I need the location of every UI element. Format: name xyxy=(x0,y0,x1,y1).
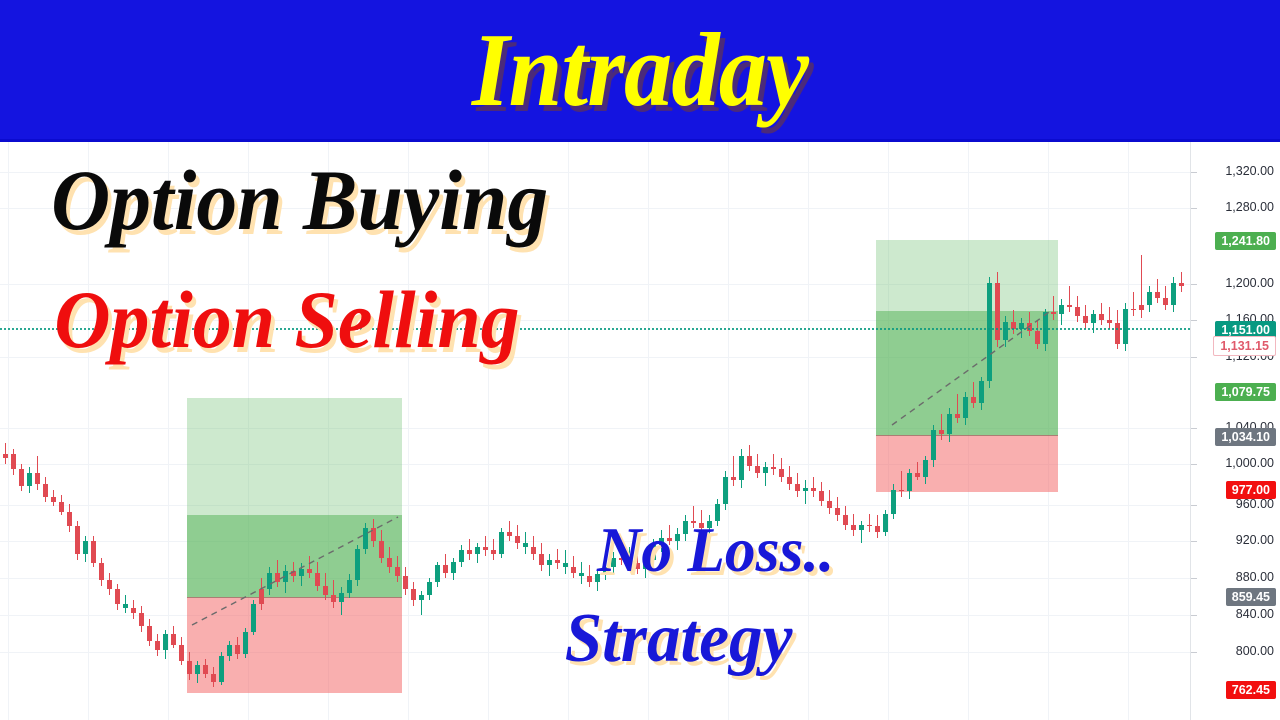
price-badge-take-profit-upper[interactable]: 1,241.80 xyxy=(1215,232,1276,250)
candlestick xyxy=(923,456,928,484)
candlestick xyxy=(995,272,1000,348)
candle-body xyxy=(219,656,224,682)
candlestick xyxy=(963,392,968,425)
price-badge-countdown-price[interactable]: 1,131.15 xyxy=(1213,336,1276,356)
candle-body xyxy=(739,456,744,480)
candle-body xyxy=(227,645,232,656)
candle-body xyxy=(275,573,280,582)
candle-body xyxy=(67,512,72,527)
candlestick xyxy=(1139,255,1144,318)
candle-body xyxy=(475,547,480,554)
candle-body xyxy=(1115,323,1120,343)
candlestick xyxy=(443,554,448,578)
candle-body xyxy=(51,497,56,503)
candlestick xyxy=(155,634,160,656)
candle-body xyxy=(859,525,864,531)
candlestick xyxy=(819,482,824,506)
candlestick xyxy=(1083,305,1088,329)
candlestick xyxy=(979,377,984,410)
candlestick xyxy=(547,554,552,576)
candlestick xyxy=(1067,286,1072,312)
candle-body xyxy=(3,454,8,458)
candlestick xyxy=(915,462,920,480)
candle-body xyxy=(1171,283,1176,305)
candle-body xyxy=(723,477,728,505)
candle-body xyxy=(491,550,496,554)
candle-body xyxy=(931,430,936,460)
candle-body xyxy=(11,454,16,469)
gridline-vertical xyxy=(8,142,9,720)
candle-body xyxy=(411,589,416,600)
candle-wick xyxy=(765,462,766,486)
candle-body xyxy=(811,488,816,492)
candlestick xyxy=(1131,292,1136,316)
candle-body xyxy=(451,562,456,573)
candle-body xyxy=(531,547,536,554)
candle-body xyxy=(1075,307,1080,316)
candle-body xyxy=(835,508,840,515)
candlestick xyxy=(363,523,368,554)
candlestick xyxy=(491,539,496,559)
candlestick xyxy=(1179,272,1184,292)
price-tick-label: 1,000.00 xyxy=(1225,456,1274,470)
candle-wick xyxy=(1109,307,1110,329)
candlestick xyxy=(763,462,768,486)
candlestick xyxy=(811,477,816,497)
candlestick xyxy=(723,471,728,510)
candlestick xyxy=(747,445,752,471)
candlestick xyxy=(1035,320,1040,350)
candlestick xyxy=(123,595,128,613)
candle-body xyxy=(35,473,40,484)
candlestick xyxy=(51,490,56,507)
candle-body xyxy=(259,589,264,604)
price-tick-mark xyxy=(1191,320,1197,321)
candlestick xyxy=(1051,296,1056,320)
candlestick xyxy=(283,565,288,593)
candle-body xyxy=(571,567,576,573)
candlestick xyxy=(19,464,24,492)
candle-body xyxy=(1107,320,1112,324)
candlestick xyxy=(75,521,80,560)
candlestick xyxy=(1003,316,1008,347)
candle-body xyxy=(139,613,144,626)
candlestick xyxy=(931,425,936,467)
candlestick xyxy=(795,473,800,497)
title-banner: Intraday xyxy=(0,0,1280,139)
candlestick xyxy=(411,582,416,606)
candlestick xyxy=(587,565,592,587)
overlay-strategy: Strategy xyxy=(565,600,793,678)
price-tick-label: 960.00 xyxy=(1236,497,1274,511)
candlestick xyxy=(259,578,264,609)
candle-body xyxy=(155,641,160,650)
candle-body xyxy=(795,484,800,491)
candlestick xyxy=(971,382,976,408)
candle-wick xyxy=(549,554,550,576)
candlestick xyxy=(3,443,8,463)
candlestick xyxy=(355,545,360,586)
candlestick xyxy=(67,504,72,532)
candle-body xyxy=(803,488,808,492)
candle-body xyxy=(587,576,592,582)
candle-body xyxy=(323,586,328,595)
overlay-no-loss: No Loss.. xyxy=(597,514,834,586)
candlestick xyxy=(451,558,456,580)
candle-wick xyxy=(901,471,902,497)
candle-body xyxy=(131,608,136,614)
price-tick-mark xyxy=(1191,541,1197,542)
candle-wick xyxy=(941,414,942,440)
candle-body xyxy=(939,430,944,434)
candle-body xyxy=(819,491,824,500)
price-tick-label: 1,280.00 xyxy=(1225,200,1274,214)
candlestick xyxy=(779,458,784,482)
candle-body xyxy=(1179,283,1184,287)
candle-body xyxy=(83,541,88,554)
candle-body xyxy=(1131,309,1136,311)
long-position-left-inner-target-zone[interactable] xyxy=(187,515,402,597)
candlestick xyxy=(347,574,352,598)
candle-body xyxy=(955,414,960,418)
overlay-option-selling: Option Selling xyxy=(54,274,519,366)
candlestick xyxy=(755,454,760,478)
candle-body xyxy=(555,560,560,564)
candlestick xyxy=(419,591,424,615)
candlestick xyxy=(891,484,896,519)
price-tick-label: 880.00 xyxy=(1236,570,1274,584)
candlestick xyxy=(907,469,912,499)
candle-body xyxy=(339,593,344,602)
candlestick xyxy=(379,530,384,563)
candle-wick xyxy=(773,454,774,474)
candlestick xyxy=(555,549,560,569)
long-position-right-entry-line xyxy=(876,435,1058,436)
candle-body xyxy=(59,502,64,511)
candle-body xyxy=(315,573,320,586)
candlestick xyxy=(851,514,856,536)
candlestick xyxy=(883,510,888,536)
candle-body xyxy=(27,473,32,486)
candle-body xyxy=(363,528,368,548)
candlestick xyxy=(171,626,176,648)
candle-body xyxy=(435,565,440,582)
candlestick xyxy=(867,514,872,532)
candle-body xyxy=(963,397,968,417)
candle-body xyxy=(1035,331,1040,344)
candlestick xyxy=(427,578,432,600)
price-tick-label: 1,200.00 xyxy=(1225,276,1274,290)
gridline-vertical xyxy=(808,142,809,720)
candle-body xyxy=(251,604,256,632)
candlestick xyxy=(1107,307,1112,329)
candlestick xyxy=(147,619,152,647)
candlestick xyxy=(179,637,184,665)
candlestick xyxy=(1155,279,1160,303)
candlestick xyxy=(531,536,536,560)
candle-body xyxy=(179,645,184,662)
candlestick xyxy=(483,536,488,556)
candle-body xyxy=(91,541,96,563)
candle-body xyxy=(347,580,352,593)
candle-body xyxy=(579,573,584,577)
candlestick xyxy=(803,480,808,504)
candle-body xyxy=(1051,312,1056,314)
candlestick xyxy=(339,587,344,615)
candlestick xyxy=(475,543,480,563)
price-tick-mark xyxy=(1191,172,1197,173)
overlay-option-buying: Option Buying xyxy=(51,152,548,248)
candle-wick xyxy=(733,456,734,486)
candlestick xyxy=(131,600,136,618)
candlestick xyxy=(227,641,232,661)
candle-body xyxy=(843,515,848,524)
candlestick xyxy=(243,628,248,658)
candle-body xyxy=(267,573,272,590)
price-tick-mark xyxy=(1191,615,1197,616)
candlestick xyxy=(1163,286,1168,310)
candlestick xyxy=(435,562,440,588)
price-tick-label: 800.00 xyxy=(1236,644,1274,658)
candlestick xyxy=(499,528,504,558)
candlestick xyxy=(115,584,120,610)
candle-body xyxy=(115,589,120,604)
candle-body xyxy=(283,571,288,582)
price-badge-target-level[interactable]: 1,079.75 xyxy=(1215,383,1276,401)
candle-body xyxy=(1003,322,1008,340)
candle-body xyxy=(547,560,552,566)
candlestick xyxy=(1059,299,1064,325)
candlestick xyxy=(251,600,256,635)
candle-body xyxy=(891,490,896,514)
candlestick xyxy=(771,454,776,474)
candle-body xyxy=(515,536,520,543)
candle-body xyxy=(187,661,192,674)
candlestick xyxy=(307,556,312,578)
candlestick xyxy=(523,532,528,554)
candle-body xyxy=(1091,314,1096,323)
candle-body xyxy=(395,567,400,576)
candlestick xyxy=(291,562,296,582)
candle-body xyxy=(75,526,80,554)
candlestick xyxy=(731,456,736,486)
candlestick xyxy=(235,637,240,659)
candlestick xyxy=(83,536,88,562)
candle-body xyxy=(1067,305,1072,307)
price-badge-stop-loss[interactable]: 762.45 xyxy=(1226,681,1276,699)
candle-body xyxy=(787,477,792,484)
candle-body xyxy=(99,563,104,580)
candle-body xyxy=(467,550,472,554)
candlestick xyxy=(107,573,112,595)
candle-body xyxy=(483,547,488,551)
price-tick-mark xyxy=(1191,357,1197,358)
candlestick xyxy=(91,536,96,567)
price-tick-label: 840.00 xyxy=(1236,607,1274,621)
candle-body xyxy=(763,467,768,473)
candlestick xyxy=(571,556,576,578)
candle-body xyxy=(307,569,312,573)
candle-body xyxy=(1139,305,1144,311)
price-badge-entry-level[interactable]: 1,034.10 xyxy=(1215,428,1276,446)
candle-body xyxy=(427,582,432,595)
candle-body xyxy=(1147,292,1152,305)
candle-body xyxy=(459,550,464,561)
candlestick xyxy=(299,563,304,585)
candlestick xyxy=(827,490,832,514)
candle-body xyxy=(563,563,568,567)
candlestick xyxy=(267,567,272,595)
price-badge-stop-loss[interactable]: 977.00 xyxy=(1226,481,1276,499)
candlestick xyxy=(1075,296,1080,322)
candle-body xyxy=(371,528,376,541)
candle-body xyxy=(731,477,736,481)
candle-body xyxy=(867,525,872,527)
candle-body xyxy=(499,532,504,554)
candlestick xyxy=(43,477,48,503)
price-scale[interactable]: 1,320.001,280.001,200.001,160.001,120.00… xyxy=(1191,142,1280,720)
candlestick xyxy=(331,580,336,608)
candlestick xyxy=(467,539,472,559)
candle-body xyxy=(235,645,240,654)
candlestick xyxy=(459,545,464,567)
candlestick xyxy=(395,556,400,582)
candlestick xyxy=(515,525,520,549)
candle-wick xyxy=(1133,292,1134,316)
gridline-horizontal xyxy=(0,505,1190,506)
candle-body xyxy=(899,490,904,492)
candle-body xyxy=(243,632,248,654)
candlestick xyxy=(1171,277,1176,312)
candle-wick xyxy=(805,480,806,504)
candle-wick xyxy=(957,394,958,424)
candlestick xyxy=(843,506,848,530)
candle-body xyxy=(771,467,776,469)
candle-body xyxy=(987,283,992,381)
candle-body xyxy=(1123,309,1128,344)
candle-body xyxy=(851,525,856,531)
candlestick xyxy=(403,567,408,595)
candle-body xyxy=(875,526,880,532)
candlestick xyxy=(315,562,320,592)
candlestick xyxy=(27,467,32,493)
candlestick xyxy=(275,560,280,588)
candlestick xyxy=(739,449,744,488)
price-tick-mark xyxy=(1191,578,1197,579)
candle-body xyxy=(419,595,424,601)
candle-body xyxy=(1059,305,1064,314)
candle-body xyxy=(947,414,952,434)
candlestick xyxy=(955,394,960,424)
candlestick xyxy=(163,630,168,660)
candle-body xyxy=(779,469,784,476)
screenshot-root: Intraday 1,320.001,280.001,200.001,160.0… xyxy=(0,0,1280,720)
candle-body xyxy=(979,381,984,403)
candle-body xyxy=(291,571,296,577)
candle-body xyxy=(387,558,392,567)
price-tick-mark xyxy=(1191,464,1197,465)
candlestick xyxy=(139,606,144,632)
price-tick-mark xyxy=(1191,208,1197,209)
candle-body xyxy=(827,501,832,508)
candlestick xyxy=(579,562,584,584)
candlestick xyxy=(371,519,376,547)
candlestick xyxy=(59,495,64,515)
price-tick-mark xyxy=(1191,284,1197,285)
candlestick xyxy=(203,659,208,677)
banner-title-text: Intraday xyxy=(51,10,1229,130)
candlestick xyxy=(539,543,544,571)
candlestick xyxy=(875,515,880,537)
candlestick xyxy=(859,521,864,543)
candlestick xyxy=(323,573,328,601)
candle-body xyxy=(507,532,512,536)
candle-body xyxy=(123,604,128,608)
candlestick xyxy=(899,471,904,497)
candle-body xyxy=(195,665,200,674)
price-tick-label: 920.00 xyxy=(1236,533,1274,547)
candlestick xyxy=(835,497,840,521)
price-tick-mark xyxy=(1191,428,1197,429)
candle-body xyxy=(1099,314,1104,320)
candle-body xyxy=(299,569,304,576)
price-tick-mark xyxy=(1191,505,1197,506)
candle-wick xyxy=(1069,286,1070,312)
candle-wick xyxy=(917,462,918,480)
candle-body xyxy=(331,595,336,602)
candle-body xyxy=(171,634,176,645)
price-badge-entry-level[interactable]: 859.45 xyxy=(1226,588,1276,606)
candle-body xyxy=(211,674,216,681)
candle-body xyxy=(995,283,1000,340)
candlestick xyxy=(1147,286,1152,312)
candlestick xyxy=(563,550,568,574)
candle-body xyxy=(107,580,112,589)
candlestick xyxy=(211,667,216,687)
candle-body xyxy=(147,626,152,641)
candle-wick xyxy=(1053,296,1054,320)
candlestick xyxy=(1011,310,1016,334)
price-tick-mark xyxy=(1191,652,1197,653)
gridline-horizontal xyxy=(0,541,1190,542)
candlestick xyxy=(99,558,104,586)
candlestick xyxy=(187,652,192,680)
candle-body xyxy=(19,469,24,486)
candlestick xyxy=(11,449,16,475)
long-position-left-entry-line xyxy=(187,597,402,598)
candlestick xyxy=(939,414,944,440)
candle-body xyxy=(1083,316,1088,323)
candle-body xyxy=(907,473,912,491)
candlestick xyxy=(947,408,952,441)
candle-body xyxy=(971,397,976,403)
candle-body xyxy=(443,565,448,572)
candlestick xyxy=(1027,312,1032,336)
candlestick xyxy=(219,652,224,685)
candlestick xyxy=(507,521,512,541)
candle-body xyxy=(355,549,360,580)
candle-body xyxy=(403,576,408,589)
candle-body xyxy=(883,514,888,532)
candle-body xyxy=(379,541,384,558)
candlestick xyxy=(987,277,992,388)
candle-body xyxy=(1163,298,1168,305)
candlestick xyxy=(787,466,792,490)
candlestick xyxy=(35,456,40,489)
candle-body xyxy=(923,460,928,477)
price-tick-label: 1,320.00 xyxy=(1225,164,1274,178)
candle-body xyxy=(1155,292,1160,298)
